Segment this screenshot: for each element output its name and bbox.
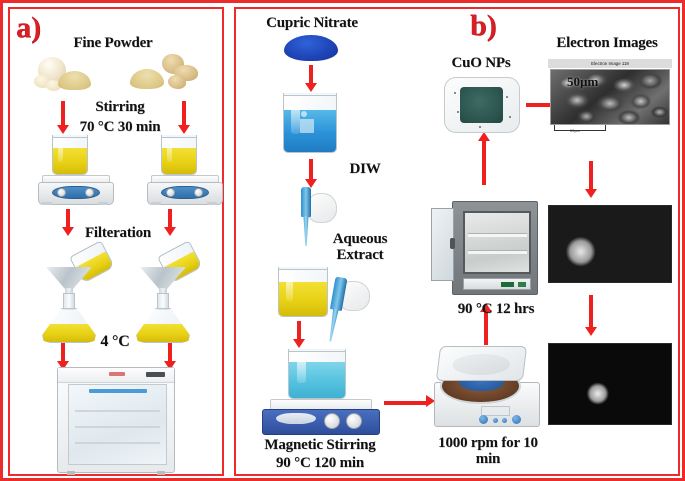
arrow-oven-to-cuo-nps bbox=[482, 139, 486, 185]
filtration-assembly-left bbox=[36, 247, 120, 347]
beaker-blue-solution bbox=[283, 93, 337, 153]
caption-stirring-conditions: 70 °C 30 min bbox=[56, 119, 184, 135]
arrow-stirrer-to-filter-right bbox=[168, 209, 172, 229]
arrow-stirrer-to-centrifuge bbox=[384, 401, 428, 405]
garlic-bulb bbox=[32, 55, 94, 95]
sem-image-1-wrapper: Electron Image 119 50µm 50µm bbox=[548, 59, 672, 137]
garlic-powder-heap bbox=[58, 71, 91, 90]
arrow-sem1-to-sem2 bbox=[589, 161, 593, 191]
caption-aqueous-extract: Aqueous Extract bbox=[308, 231, 412, 263]
arrow-sem2-to-sem3 bbox=[589, 295, 593, 329]
caption-centrifuge: 1000 rpm for 10 min bbox=[418, 435, 558, 467]
caption-magnetic-stirring-conditions: 90 °C 120 min bbox=[240, 455, 400, 471]
beaker-extract-right bbox=[161, 135, 197, 175]
beaker-extract-left bbox=[52, 135, 88, 175]
caption-oven: 90 °C 12 hrs bbox=[428, 301, 564, 317]
figure-root: a) Fine Powder Stirring 70 °C 30 min bbox=[0, 0, 685, 481]
hotplate-stirrer-right bbox=[147, 135, 221, 207]
laboratory-refrigerator bbox=[57, 367, 175, 473]
caption-storage-temperature: 4 °C bbox=[80, 333, 150, 350]
sem-image-1: 50µm bbox=[550, 69, 670, 125]
sem-image-3 bbox=[548, 343, 672, 425]
centrifuge bbox=[434, 349, 540, 427]
panel-b: b) Cupric Nitrate DIW Aqueous Extract bbox=[234, 7, 680, 476]
drying-oven bbox=[452, 201, 538, 295]
ginger-powder-heap bbox=[130, 69, 164, 89]
caption-cuo-nps: CuO NPs bbox=[426, 55, 536, 71]
hotplate-stirrer-left bbox=[38, 135, 112, 207]
panel-a-label: a) bbox=[16, 11, 41, 45]
sem-image-1-scale-label: 50µm bbox=[570, 128, 580, 133]
arrow-nitrate-to-beaker bbox=[309, 65, 313, 85]
panel-b-label: b) bbox=[470, 9, 497, 43]
caption-diw: DIW bbox=[332, 161, 398, 177]
petri-dish-cuo-nps bbox=[444, 77, 520, 133]
caption-electron-images: Electron Images bbox=[536, 35, 678, 51]
filtration-assembly-right bbox=[128, 247, 212, 347]
caption-fine-powder: Fine Powder bbox=[48, 35, 178, 51]
caption-stirring: Stirring bbox=[67, 99, 173, 115]
panel-a: a) Fine Powder Stirring 70 °C 30 min bbox=[8, 7, 224, 476]
sem-image-1-caption: Electron Image 119 bbox=[548, 59, 672, 68]
beaker-aqueous-extract bbox=[278, 267, 328, 317]
micropipette-extract bbox=[322, 277, 370, 343]
caption-cupric-nitrate: Cupric Nitrate bbox=[242, 15, 382, 31]
ginger-rhizome bbox=[128, 53, 200, 97]
cupric-nitrate-powder bbox=[284, 35, 338, 61]
magnetic-stirrer-assembly bbox=[262, 349, 378, 437]
arrow-stirrer-to-filter-left bbox=[66, 209, 70, 229]
caption-filteration: Filteration bbox=[72, 225, 164, 241]
arrow-beaker-to-pipette bbox=[309, 159, 313, 181]
caption-magnetic-stirring: Magnetic Stirring bbox=[240, 437, 400, 453]
sem-image-2 bbox=[548, 205, 672, 283]
sem-image-1-scale-text: 50µm bbox=[567, 74, 598, 90]
beaker-reaction-mixture bbox=[288, 349, 346, 399]
